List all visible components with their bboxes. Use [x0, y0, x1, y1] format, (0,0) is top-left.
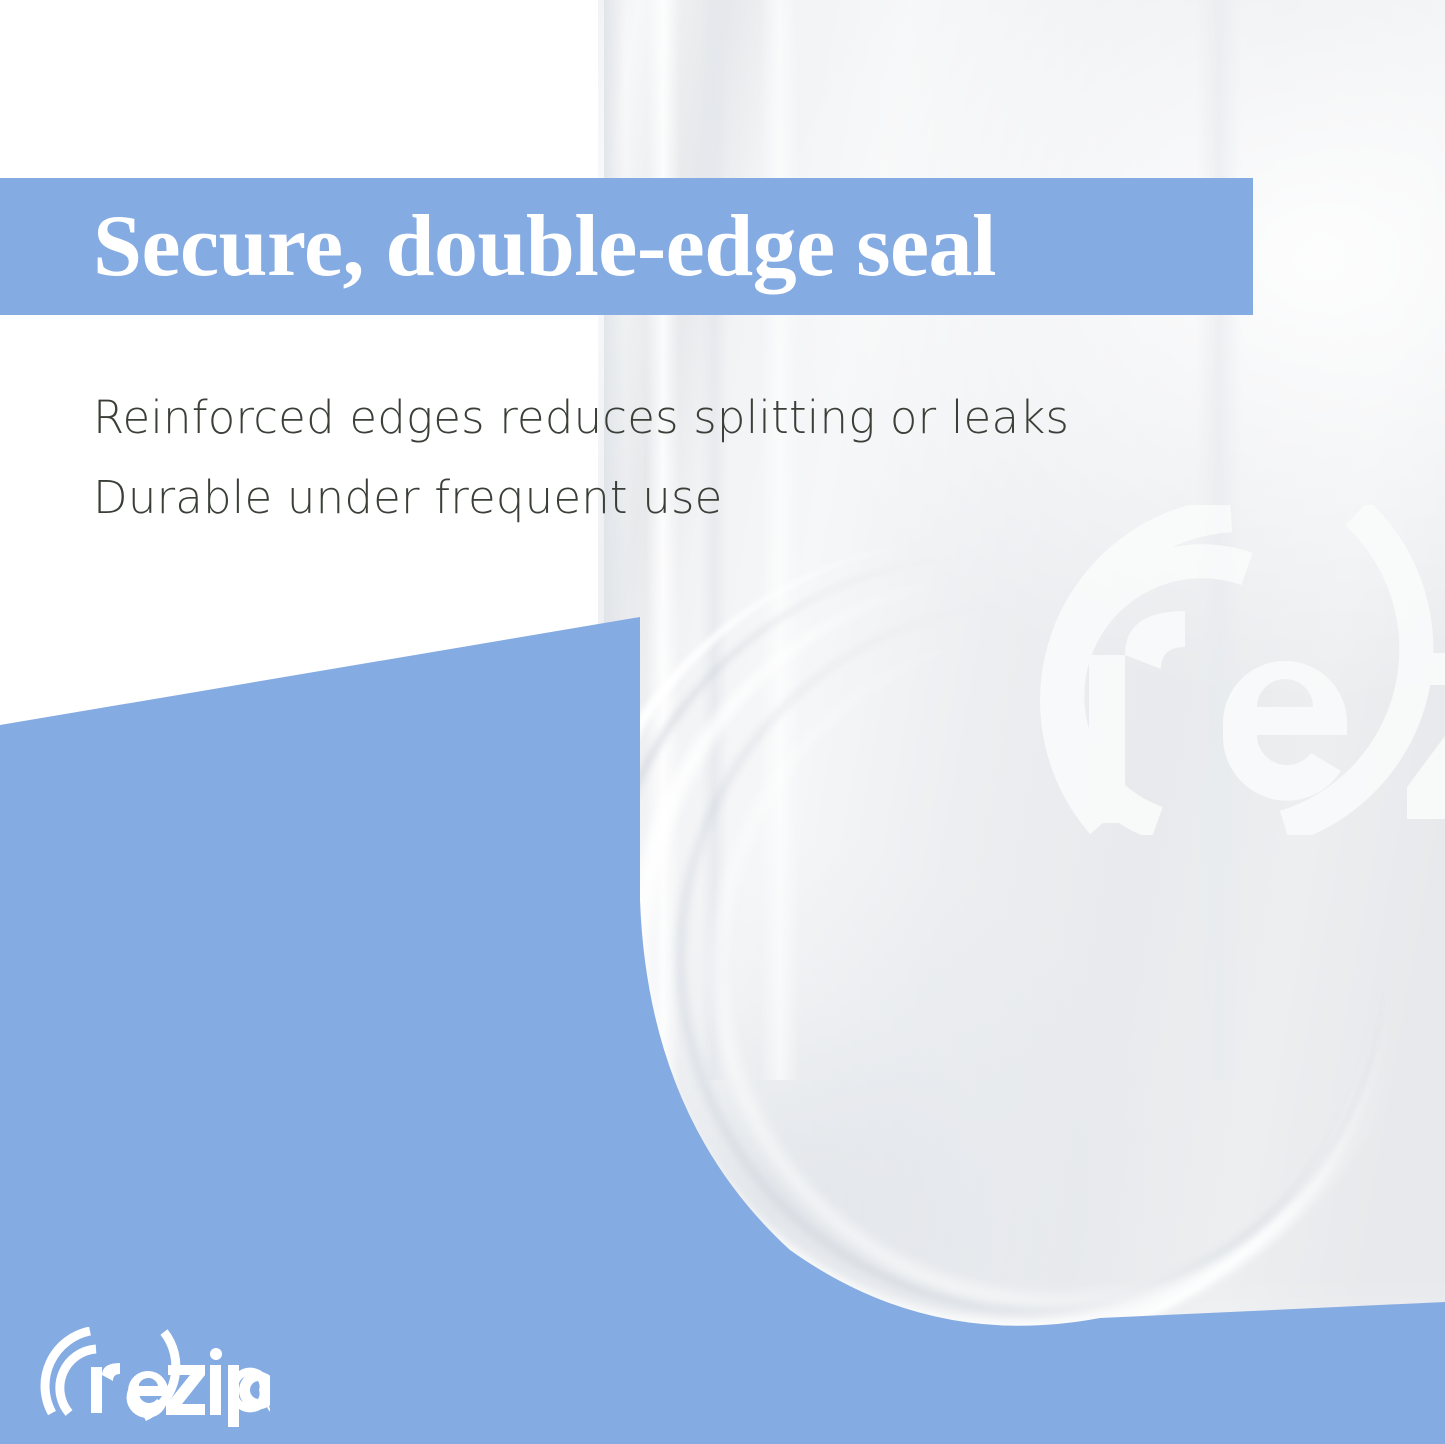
headline-text: Secure, double-edge seal — [93, 203, 996, 291]
headline-banner: Secure, double-edge seal — [0, 178, 1253, 315]
feature-bullet-1: Reinforced edges reduces splitting or le… — [93, 378, 1153, 458]
feature-bullet-list: Reinforced edges reduces splitting or le… — [93, 378, 1153, 538]
feature-bullet-2: Durable under frequent use — [93, 458, 1153, 538]
brand-logo: R — [40, 1327, 270, 1427]
rezip-logo-icon: R — [40, 1327, 270, 1427]
feature-card-canvas: Secure, double-edge seal Reinforced edge… — [0, 0, 1445, 1444]
